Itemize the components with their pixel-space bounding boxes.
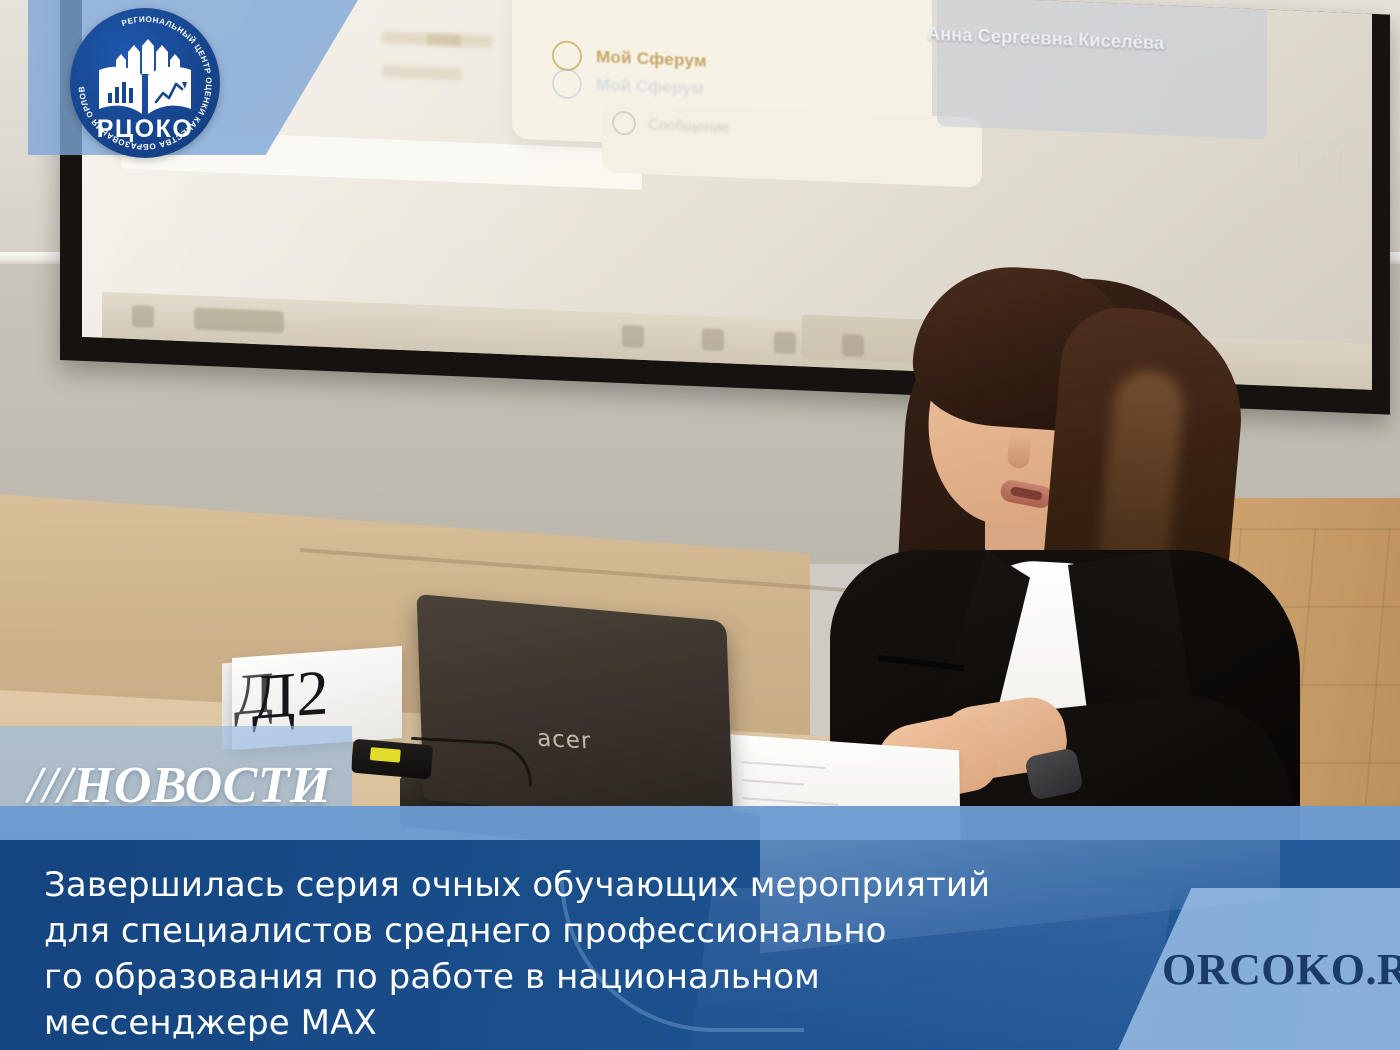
search-box-icon [194, 307, 284, 333]
paper-line [742, 779, 804, 785]
presentation-clicker [351, 739, 434, 780]
accent-strip [0, 806, 1400, 842]
paper-line [742, 761, 826, 769]
screen-menu-label-third: Сообщение [648, 116, 730, 136]
screen-menu-label-ghost: Мой Сферум [596, 75, 704, 99]
acer-logo: acer [536, 726, 592, 755]
paper-line [742, 797, 838, 806]
headline-line: мессенджере МАХ [44, 1000, 1024, 1046]
headline-line: Завершилась серия очных обучающих меропр… [44, 862, 1024, 908]
laptop-lid: acer [417, 594, 734, 827]
nose [1007, 433, 1032, 469]
clicker-label-sticker [370, 747, 401, 763]
news-card-graphic: Мой Сферум Мой Сферум Сообщение Анна Сер… [0, 0, 1400, 1050]
screen-menu-label: Мой Сферум [596, 47, 707, 72]
app-icon-3 [774, 331, 796, 354]
headline-line: го образования по работе в национальном [44, 954, 1024, 1000]
rcoko-logo: РЕГИОНАЛЬНЫЙ ЦЕНТР ОЦЕНКИ КАЧЕСТВА ОБРАЗ… [70, 8, 220, 158]
screen-menu-row-ghost: Мой Сферум [552, 68, 704, 104]
headline-text: Завершилась серия очных обучающих меропр… [44, 862, 1024, 1046]
smiley-icon [1298, 141, 1342, 187]
screen-right-panel [937, 0, 1267, 140]
sferum-ghost-icon [552, 68, 582, 99]
chat-icon [612, 111, 636, 136]
headline-line: для специалистов среднего профессиональн… [44, 908, 1024, 954]
sferum-icon [552, 40, 582, 71]
table-tent-letter: Д2 [252, 655, 330, 734]
site-url[interactable]: ORCOKO.RU [1162, 944, 1400, 995]
logo-acronym: РЦОКО [70, 115, 220, 144]
screen-menu-row-third: Сообщение [612, 111, 730, 140]
app-icon-2 [702, 328, 724, 351]
start-icon [132, 305, 154, 328]
app-icon-4 [842, 334, 864, 357]
screen-blur-text-3 [427, 33, 461, 46]
app-icon-1 [622, 325, 644, 348]
